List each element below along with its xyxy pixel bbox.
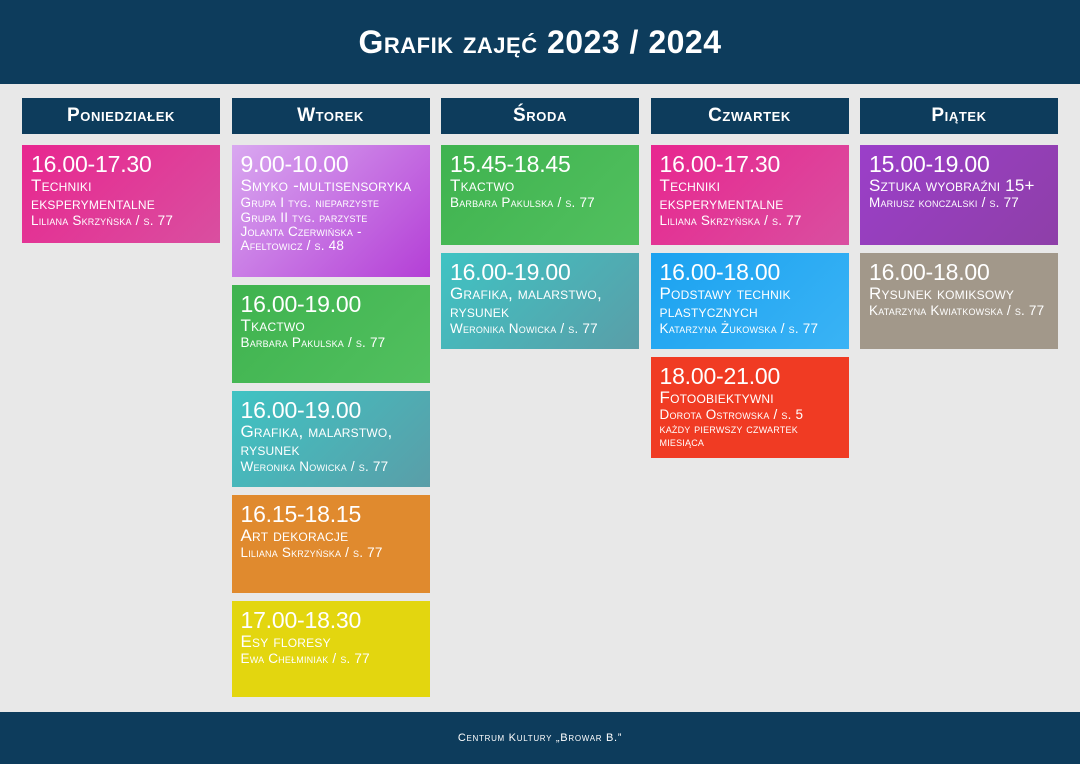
class-name: Sztuka wyobraźni 15+ — [869, 177, 1049, 195]
class-detail: Grupa I tyg. nieparzyste — [241, 196, 421, 210]
class-card[interactable]: 16.00-17.30Techniki eksperymentalneLilia… — [22, 145, 220, 243]
class-detail: Jolanta Czerwińska -Afeltowicz / s. 48 — [241, 225, 421, 254]
class-card[interactable]: 16.15-18.15Art dekoracjeLiliana Skrzyńsk… — [232, 495, 430, 593]
class-card[interactable]: 9.00-10.00Smyko -multisensorykaGrupa I t… — [232, 145, 430, 277]
class-name: Art dekoracje — [241, 527, 421, 545]
class-card[interactable]: 15.45-18.45TkactwoBarbara Pakulska / s. … — [441, 145, 639, 245]
class-detail: Barbara Pakulska / s. 77 — [450, 196, 630, 210]
footer-text: Centrum Kultury „Browar B.” — [458, 732, 622, 744]
class-detail: Weronika Nowicka / s. 77 — [450, 322, 630, 336]
class-name: Tkactwo — [241, 317, 421, 335]
class-time: 16.00-19.00 — [241, 398, 421, 422]
day-header-5: Piątek — [860, 98, 1058, 134]
page-title: Grafik zajęć 2023 / 2024 — [358, 24, 721, 61]
class-time: 16.00-18.00 — [660, 260, 840, 284]
class-name: Rysunek komiksowy — [869, 285, 1049, 303]
class-time: 18.00-21.00 — [660, 364, 840, 388]
day-column: Piątek15.00-19.00Sztuka wyobraźni 15+Mar… — [860, 98, 1058, 357]
class-time: 16.00-17.30 — [31, 152, 211, 176]
class-name: Podstawy technik plastycznych — [660, 285, 840, 321]
class-detail: Liliana Skrzyńska / s. 77 — [660, 214, 840, 228]
class-detail: Katarzyna Kwiatkowska / s. 77 — [869, 304, 1049, 318]
day-column: Środa15.45-18.45TkactwoBarbara Pakulska … — [441, 98, 639, 357]
class-detail: Weronika Nowicka / s. 77 — [241, 460, 421, 474]
class-card[interactable]: 16.00-18.00Podstawy technik plastycznych… — [651, 253, 849, 349]
class-time: 16.00-18.00 — [869, 260, 1049, 284]
class-card[interactable]: 16.00-19.00Grafika, malarstwo, rysunekWe… — [441, 253, 639, 349]
class-name: Tkactwo — [450, 177, 630, 195]
class-time: 16.00-19.00 — [450, 260, 630, 284]
class-time: 16.15-18.15 — [241, 502, 421, 526]
class-name: Grafika, malarstwo, rysunek — [450, 285, 630, 321]
class-detail: Barbara Pakulska / s. 77 — [241, 336, 421, 350]
day-header-4: Czwartek — [651, 98, 849, 134]
class-detail: Ewa Chełminiak / s. 77 — [241, 652, 421, 666]
class-name: Techniki eksperymentalne — [31, 177, 211, 213]
footer-bar: Centrum Kultury „Browar B.” — [0, 712, 1080, 764]
class-detail: Katarzyna Żukowska / s. 77 — [660, 322, 840, 336]
class-card[interactable]: 16.00-18.00Rysunek komiksowyKatarzyna Kw… — [860, 253, 1058, 349]
class-name: Grafika, malarstwo, rysunek — [241, 423, 421, 459]
class-detail: Dorota Ostrowska / s. 5 — [660, 408, 840, 422]
class-time: 15.00-19.00 — [869, 152, 1049, 176]
class-card[interactable]: 16.00-19.00TkactwoBarbara Pakulska / s. … — [232, 285, 430, 383]
class-detail: Liliana Skrzyńska / s. 77 — [241, 546, 421, 560]
class-card[interactable]: 17.00-18.30Esy floresyEwa Chełminiak / s… — [232, 601, 430, 697]
schedule-page: Grafik zajęć 2023 / 2024 Poniedziałek16.… — [0, 0, 1080, 764]
class-detail: Liliana Skrzyńska / s. 77 — [31, 214, 211, 228]
class-detail: Grupa II tyg. parzyste — [241, 211, 421, 225]
day-header-3: Środa — [441, 98, 639, 134]
class-name: Techniki eksperymentalne — [660, 177, 840, 213]
class-name: Esy floresy — [241, 633, 421, 651]
day-header-1: Poniedziałek — [22, 98, 220, 134]
day-column: Wtorek9.00-10.00Smyko -multisensorykaGru… — [232, 98, 430, 705]
class-name: Smyko -multisensoryka — [241, 177, 421, 195]
day-column: Czwartek16.00-17.30Techniki eksperymenta… — [651, 98, 849, 466]
day-column: Poniedziałek16.00-17.30Techniki eksperym… — [22, 98, 220, 251]
class-time: 16.00-17.30 — [660, 152, 840, 176]
class-time: 15.45-18.45 — [450, 152, 630, 176]
class-card[interactable]: 16.00-17.30Techniki eksperymentalneLilia… — [651, 145, 849, 245]
class-detail: Mariusz konczalski / s. 77 — [869, 196, 1049, 210]
class-name: Fotoobiektywni — [660, 389, 840, 407]
title-bar: Grafik zajęć 2023 / 2024 — [0, 0, 1080, 84]
class-card[interactable]: 15.00-19.00Sztuka wyobraźni 15+Mariusz k… — [860, 145, 1058, 245]
class-time: 16.00-19.00 — [241, 292, 421, 316]
class-time: 17.00-18.30 — [241, 608, 421, 632]
day-header-2: Wtorek — [232, 98, 430, 134]
class-card[interactable]: 18.00-21.00FotoobiektywniDorota Ostrowsk… — [651, 357, 849, 458]
class-card[interactable]: 16.00-19.00Grafika, malarstwo, rysunekWe… — [232, 391, 430, 487]
class-time: 9.00-10.00 — [241, 152, 421, 176]
schedule-grid: Poniedziałek16.00-17.30Techniki eksperym… — [0, 84, 1080, 712]
class-note: każdy pierwszy czwartek miesiąca — [660, 423, 840, 450]
